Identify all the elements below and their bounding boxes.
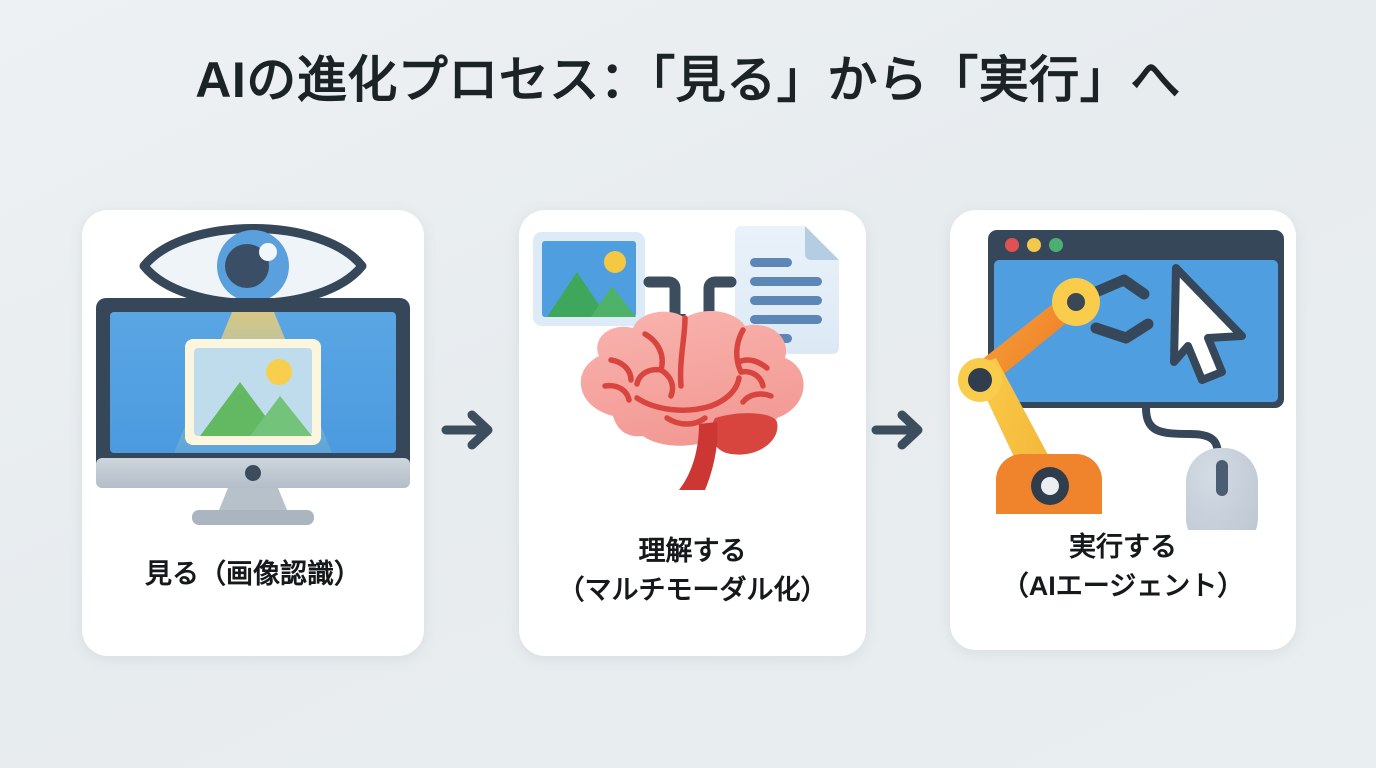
photo-icon bbox=[185, 339, 321, 445]
cable bbox=[1146, 408, 1218, 456]
card-understand[interactable]: 理解する （マルチモーダル化） bbox=[519, 210, 866, 656]
browser-window-icon bbox=[988, 230, 1284, 408]
arrow-right-icon-1 bbox=[438, 398, 502, 462]
mouse-icon bbox=[1186, 448, 1258, 530]
eye-icon bbox=[144, 229, 362, 304]
card-understand-label-line1: 理解する bbox=[519, 532, 866, 571]
card-act-label-line1: 実行する bbox=[950, 528, 1296, 567]
card-understand-label: 理解する （マルチモーダル化） bbox=[519, 532, 866, 610]
card-understand-label-line2: （マルチモーダル化） bbox=[519, 571, 866, 610]
window-dot-yellow bbox=[1027, 238, 1041, 252]
arrow-right-icon-2 bbox=[868, 398, 932, 462]
card-see-label: 見る（画像認識） bbox=[82, 555, 424, 594]
brain-icon bbox=[581, 311, 804, 490]
page-title: AIの進化プロセス：「見る」から「実行」へ bbox=[0, 40, 1376, 112]
multimodal-brain-illustration bbox=[519, 210, 866, 530]
image-thumbnail-icon bbox=[533, 232, 645, 326]
card-see[interactable]: 見る（画像認識） bbox=[82, 210, 424, 656]
window-dot-green bbox=[1049, 238, 1063, 252]
window-dot-red bbox=[1005, 238, 1019, 252]
card-act-label: 実行する （AIエージェント） bbox=[950, 528, 1296, 606]
monitor-eye-illustration bbox=[82, 210, 424, 530]
slide-canvas: AIの進化プロセス：「見る」から「実行」へ bbox=[0, 0, 1376, 768]
card-see-label-line1: 見る（画像認識） bbox=[82, 555, 424, 594]
card-act[interactable]: 実行する （AIエージェント） bbox=[950, 210, 1296, 650]
robot-arm-browser-illustration bbox=[950, 210, 1296, 530]
card-act-label-line2: （AIエージェント） bbox=[950, 567, 1296, 606]
